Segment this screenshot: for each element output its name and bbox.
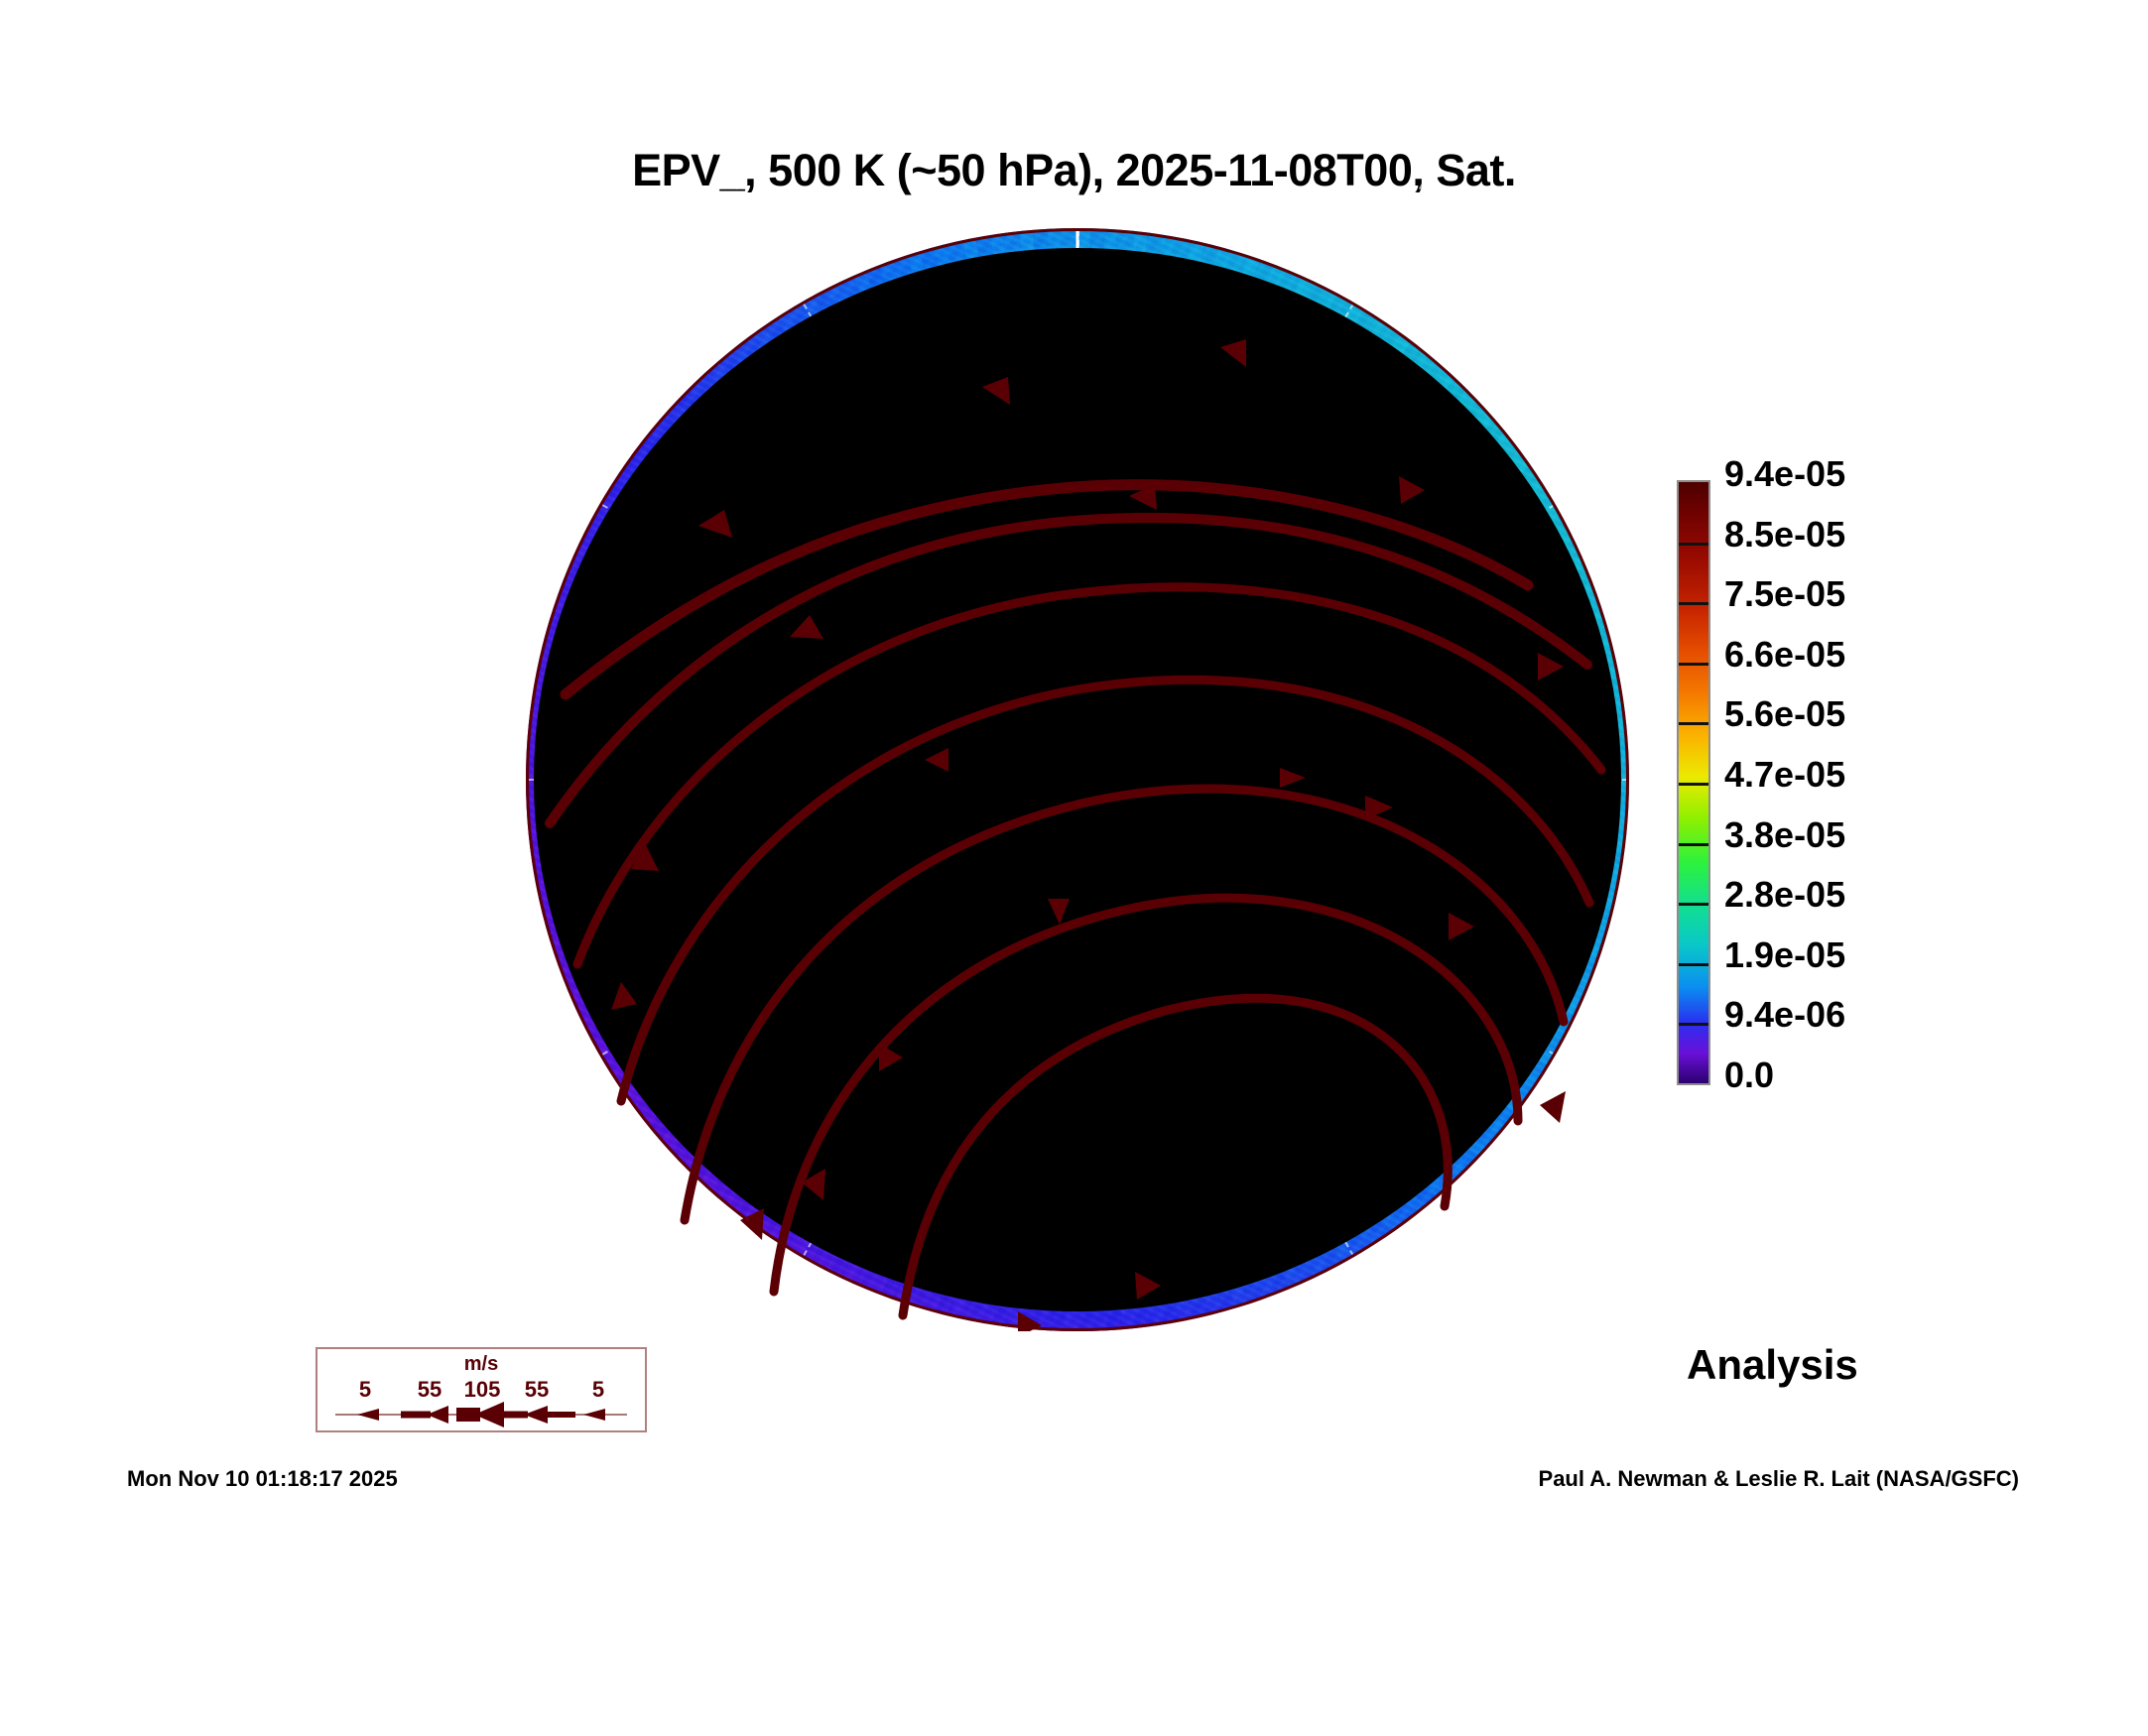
- colorbar-tick: [1679, 543, 1708, 546]
- author-credit: Paul A. Newman & Leslie R. Lait (NASA/GS…: [1539, 1466, 2019, 1492]
- wind-key-values: 5 55 105 55 5: [317, 1377, 645, 1401]
- colorbar-tick: [1679, 783, 1708, 786]
- colorbar-label: 5.6e-05: [1724, 696, 1845, 732]
- colorbar-label: 9.4e-06: [1724, 997, 1845, 1033]
- colorbar-label: 3.8e-05: [1724, 817, 1845, 853]
- colorbar-tick: [1679, 843, 1708, 846]
- page-title: EPV_, 500 K (~50 hPa), 2025-11-08T00, Sa…: [0, 145, 2148, 196]
- analysis-label: Analysis: [1687, 1341, 1858, 1389]
- colorbar-label: 2.8e-05: [1724, 877, 1845, 913]
- colorbar-label: 1.9e-05: [1724, 937, 1845, 973]
- generation-timestamp: Mon Nov 10 01:18:17 2025: [127, 1466, 398, 1492]
- colorbar-tick: [1679, 722, 1708, 725]
- wind-key-value: 55: [418, 1377, 442, 1403]
- map-outer-boundary: [526, 228, 1629, 1331]
- wind-key-value: 5: [359, 1377, 371, 1403]
- colorbar-label: 4.7e-05: [1724, 757, 1845, 793]
- colorbar-label: 0.0: [1724, 1057, 1774, 1093]
- wind-key-unit-label: m/s: [317, 1353, 645, 1376]
- wind-key-value: 55: [525, 1377, 549, 1403]
- wind-speed-key: m/s 5 55 105 55 5: [316, 1347, 647, 1432]
- wind-key-value: 105: [464, 1377, 501, 1403]
- polar-map: [526, 228, 1629, 1331]
- colorbar-tick: [1679, 663, 1708, 666]
- colorbar: [1677, 480, 1710, 1085]
- colorbar-label: 8.5e-05: [1724, 517, 1845, 553]
- colorbar-tick: [1679, 1023, 1708, 1026]
- colorbar-label: 7.5e-05: [1724, 576, 1845, 612]
- colorbar-tick: [1679, 602, 1708, 605]
- colorbar-tick: [1679, 963, 1708, 966]
- colorbar-label: 6.6e-05: [1724, 637, 1845, 673]
- colorbar-tick: [1679, 903, 1708, 906]
- colorbar-label: 9.4e-05: [1724, 456, 1845, 492]
- wind-key-arrow-scale: [317, 1401, 645, 1428]
- wind-key-value: 5: [592, 1377, 604, 1403]
